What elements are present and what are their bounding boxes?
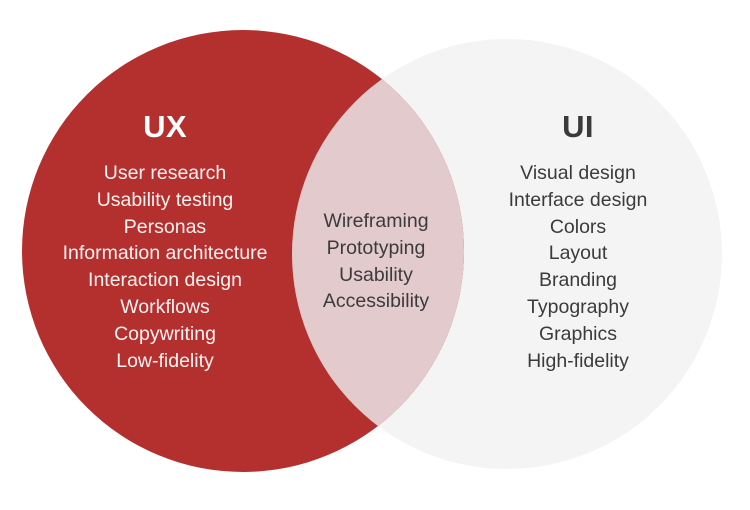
ui-list-item: Interface design (458, 187, 698, 214)
ux-list-item: Interaction design (25, 267, 305, 294)
overlap-list-item: Accessibility (296, 288, 456, 315)
ui-list-item: Colors (458, 214, 698, 241)
overlap-list-item: Usability (296, 262, 456, 289)
overlap-item-list: Wireframing Prototyping Usability Access… (296, 208, 456, 315)
ux-list-item: Usability testing (25, 187, 305, 214)
overlap-region: Wireframing Prototyping Usability Access… (296, 208, 456, 315)
ui-list-item: Layout (458, 240, 698, 267)
ui-list-item: Typography (458, 294, 698, 321)
ux-list-item: Low-fidelity (25, 348, 305, 375)
overlap-list-item: Wireframing (296, 208, 456, 235)
ux-title: UX (25, 110, 305, 144)
venn-diagram: UX User research Usability testing Perso… (0, 0, 750, 510)
ui-list-item: High-fidelity (458, 348, 698, 375)
ux-list-item: Workflows (25, 294, 305, 321)
ui-list-item: Visual design (458, 160, 698, 187)
ux-list-item: Personas (25, 214, 305, 241)
ux-region: UX User research Usability testing Perso… (25, 110, 305, 374)
ux-list-item: User research (25, 160, 305, 187)
ux-list-item: Information architecture (25, 240, 305, 267)
ui-title: UI (458, 110, 698, 144)
ui-list-item: Graphics (458, 321, 698, 348)
ui-list-item: Branding (458, 267, 698, 294)
overlap-list-item: Prototyping (296, 235, 456, 262)
ux-list-item: Copywriting (25, 321, 305, 348)
ux-item-list: User research Usability testing Personas… (25, 160, 305, 374)
ui-item-list: Visual design Interface design Colors La… (458, 160, 698, 374)
ui-region: UI Visual design Interface design Colors… (458, 110, 698, 374)
